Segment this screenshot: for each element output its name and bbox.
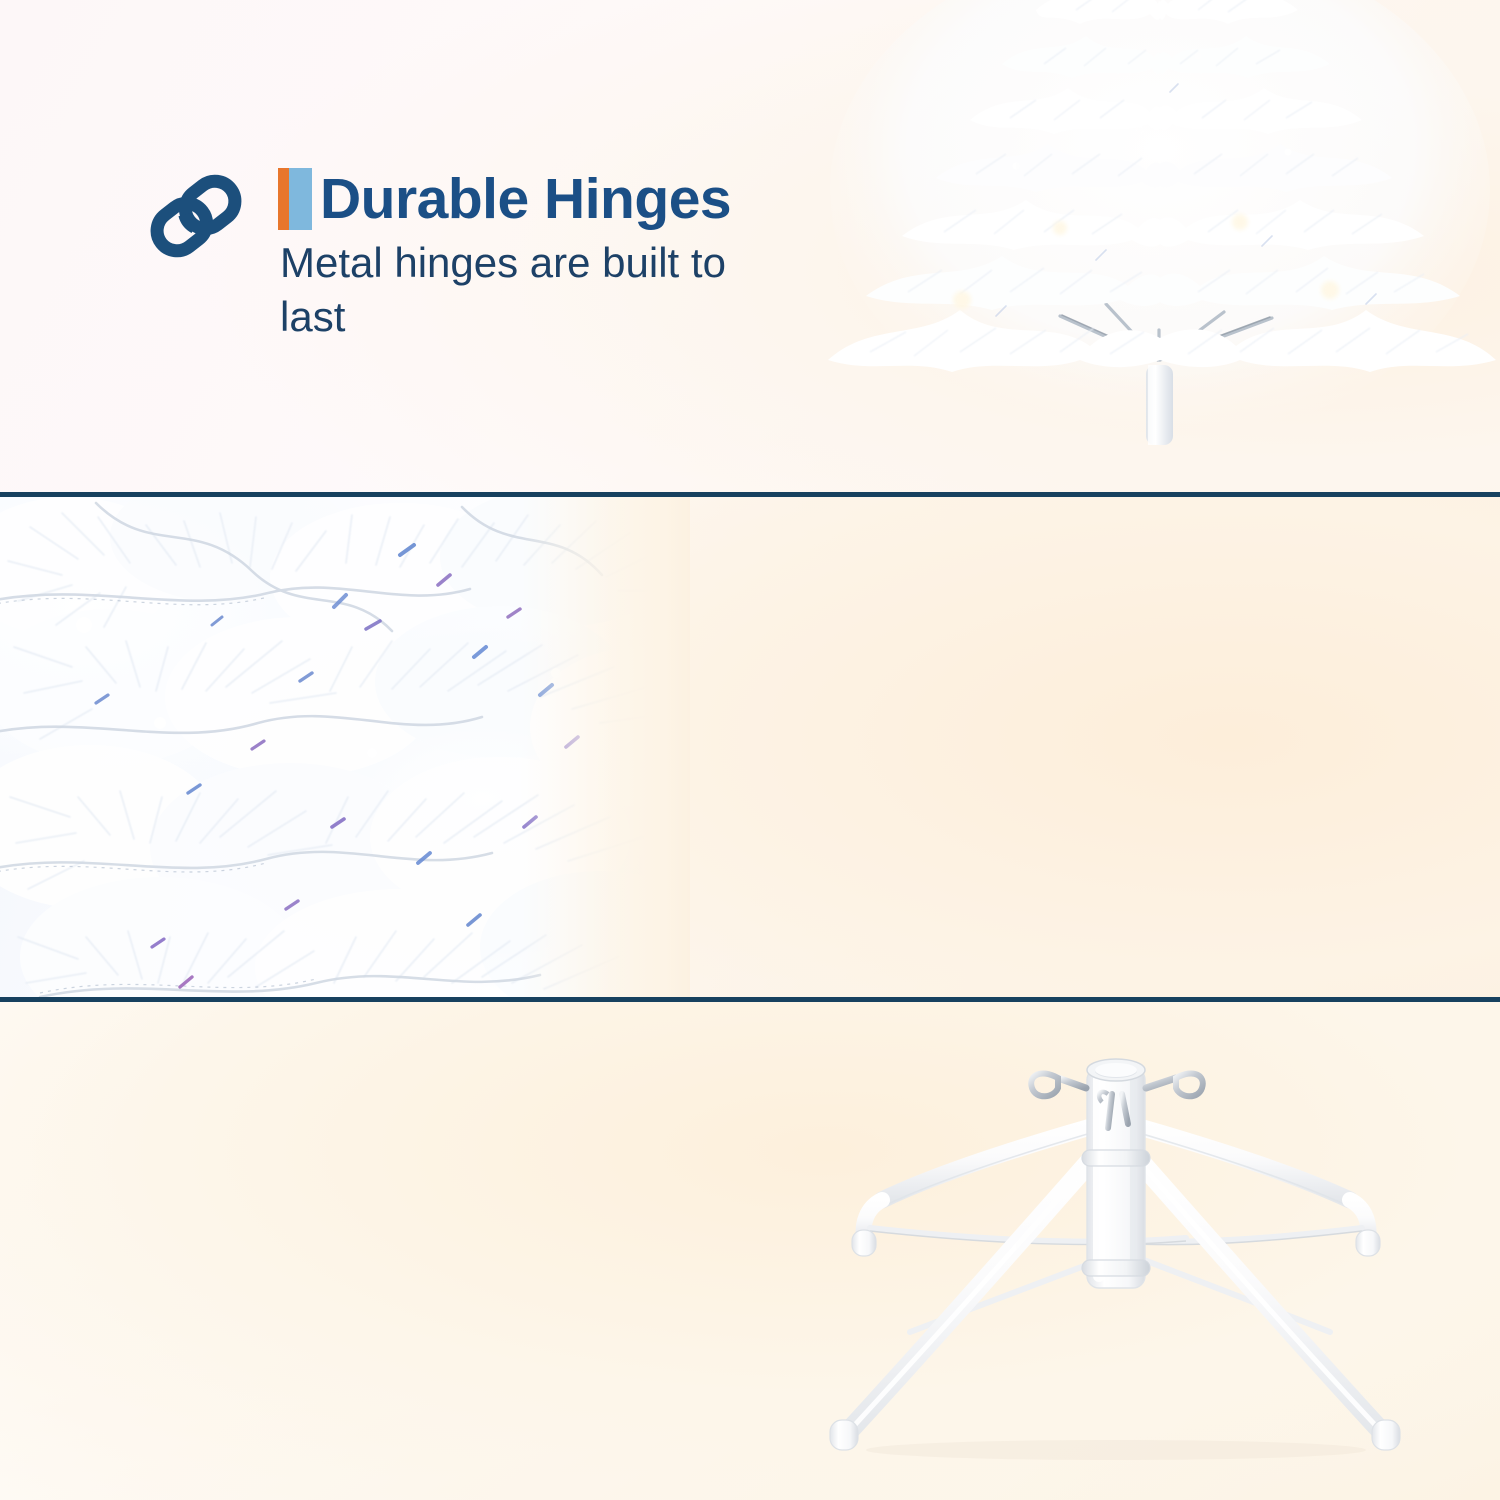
chain-link-icon: [140, 168, 252, 269]
product-feature-infographic: Durable Hinges Metal hinges are built to…: [0, 0, 1500, 1500]
feature-block-hinges: Durable Hinges Metal hinges are built to…: [140, 168, 800, 344]
tree-photo: [810, 0, 1500, 490]
feature-title: Durable Hinges: [316, 168, 731, 230]
accent-bar-orange: [278, 168, 289, 230]
feature-text-hinges: Durable Hinges Metal hinges are built to…: [278, 168, 800, 344]
feature-heading-row: Durable Hinges: [278, 168, 800, 230]
branch-closeup-photo: [0, 497, 690, 1000]
wing-screw-right: [1146, 1073, 1203, 1096]
branch-photo-fade: [520, 497, 690, 1000]
chain-link-glyph: [140, 168, 252, 264]
white-tree-stand-illustration: [790, 1032, 1440, 1462]
wing-screw-left: [1031, 1073, 1086, 1096]
panel-divider-2: [0, 997, 1500, 1002]
accent-bar-blue: [289, 168, 312, 230]
feature-panel-pvc: PVC Branches Realistic, Flame-retardant …: [0, 497, 1500, 1000]
feature-panel-hinges: Durable Hinges Metal hinges are built to…: [0, 0, 1500, 495]
feature-panel-base: Sturdy Base Strong, stable stand: [0, 1002, 1500, 1500]
feature-description: Metal hinges are built to last: [280, 236, 800, 344]
white-christmas-tree-illustration: [810, 0, 1500, 490]
tree-stand-photo: [790, 1032, 1440, 1462]
accent-bars: [278, 168, 312, 230]
panel-divider-1: [0, 492, 1500, 497]
